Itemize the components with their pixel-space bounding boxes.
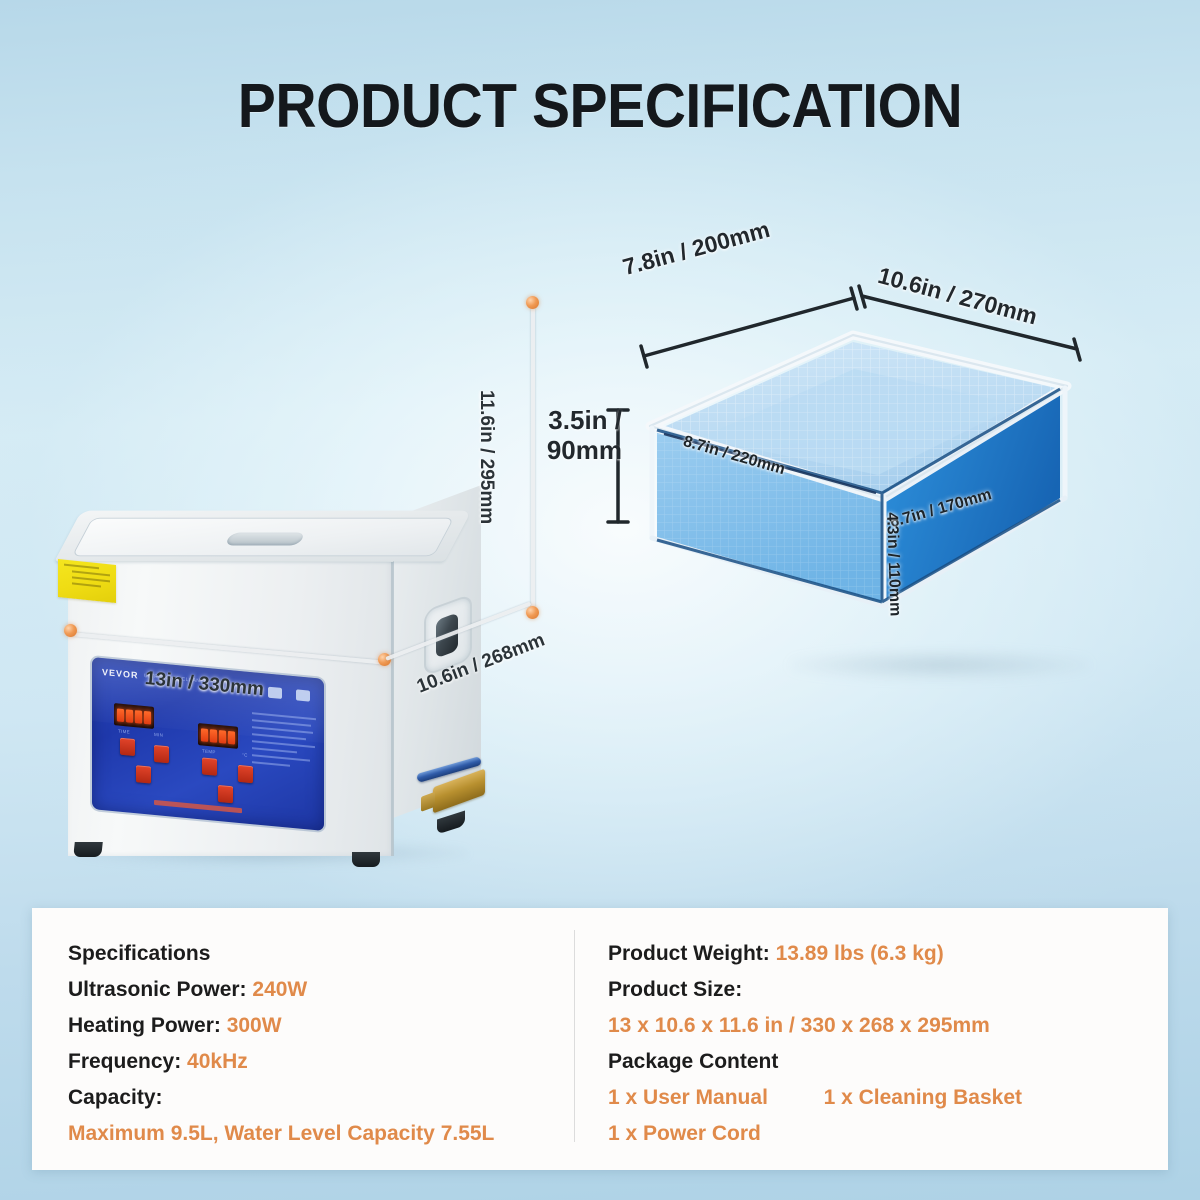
dimension-dot-top-right	[526, 296, 539, 309]
cleaner-foot-front-right	[352, 852, 380, 867]
spec-value-frequency: 40kHz	[187, 1050, 248, 1073]
panel-button-time-down	[154, 745, 169, 763]
basket-inner-height-label: 4.3in / 110mm	[882, 512, 904, 617]
spec-column-right: Product Weight: 13.89 lbs (6.3 kg) Produ…	[574, 908, 1168, 1170]
spec-label-product-size: Product Size:	[608, 972, 1168, 1008]
dimension-dot-bottom-left	[64, 624, 77, 637]
cleaner-corner-edge	[391, 556, 394, 856]
specification-card: Specifications Ultrasonic Power: 240W He…	[32, 908, 1168, 1170]
panel-button-time-up	[120, 738, 135, 756]
page-title: PRODUCT SPECIFICATION	[48, 76, 1152, 138]
panel-button-heater	[218, 785, 233, 803]
spec-value-heating-power: 300W	[227, 1014, 282, 1037]
spec-value-capacity: Maximum 9.5L, Water Level Capacity 7.55L	[68, 1116, 574, 1152]
package-item-power-cord: 1 x Power Cord	[608, 1116, 1168, 1152]
package-item-cleaning-basket: 1 x Cleaning Basket	[824, 1086, 1022, 1109]
panel-instruction-lines	[252, 712, 316, 774]
warning-label-sticker	[58, 559, 116, 603]
cleaner-foot-back-right	[437, 810, 465, 834]
package-item-user-manual: 1 x User Manual	[608, 1086, 768, 1109]
spec-value-ultrasonic-power: 240W	[252, 978, 307, 1001]
panel-button-temp-up	[202, 757, 217, 775]
ultrasonic-cleaner-illustration: VEVOR ULTRASONIC CLEANER TIME MIN TEMP °…	[0, 230, 600, 750]
spec-heading: Specifications	[68, 936, 574, 972]
led-display-time	[114, 703, 154, 729]
spec-column-left: Specifications Ultrasonic Power: 240W He…	[32, 908, 574, 1170]
cleaning-basket-illustration: 7.8in / 200mm 10.6in / 270mm 3.5in /90mm…	[600, 250, 1200, 730]
spec-label-frequency: Frequency:	[68, 1050, 181, 1073]
cleaner-foot-front-left	[73, 842, 103, 857]
spec-label-capacity: Capacity:	[68, 1080, 574, 1116]
spec-row-product-weight: Product Weight: 13.89 lbs (6.3 kg)	[608, 936, 1168, 972]
dimension-dot-bottom-right	[526, 606, 539, 619]
product-specification-page: PRODUCT SPECIFICATION VEVOR ULTRASONIC C…	[0, 0, 1200, 1200]
led-display-temperature	[198, 723, 238, 749]
spec-row-ultrasonic-power: Ultrasonic Power: 240W	[68, 972, 574, 1008]
cleaner-lid-handle	[224, 533, 305, 546]
panel-button-ultrasonic	[136, 765, 151, 783]
spec-label-heating-power: Heating Power:	[68, 1014, 221, 1037]
spec-row-frequency: Frequency: 40kHz	[68, 1044, 574, 1080]
panel-button-temp-down	[238, 765, 253, 783]
basket-outer-height-label: 3.5in /90mm	[432, 405, 622, 465]
panel-toggle-left	[268, 687, 282, 699]
spec-value-product-weight: 13.89 lbs (6.3 kg)	[776, 942, 944, 965]
panel-toggle-right	[296, 689, 310, 701]
package-item-row-1: 1 x User Manual 1 x Cleaning Basket	[608, 1080, 1168, 1116]
basket-svg	[600, 250, 1200, 730]
spec-value-product-size: 13 x 10.6 x 11.6 in / 330 x 268 x 295mm	[608, 1008, 1168, 1044]
spec-row-heating-power: Heating Power: 300W	[68, 1008, 574, 1044]
spec-label-ultrasonic-power: Ultrasonic Power:	[68, 978, 247, 1001]
spec-heading-package-content: Package Content	[608, 1044, 1168, 1080]
spec-label-product-weight: Product Weight:	[608, 942, 770, 965]
